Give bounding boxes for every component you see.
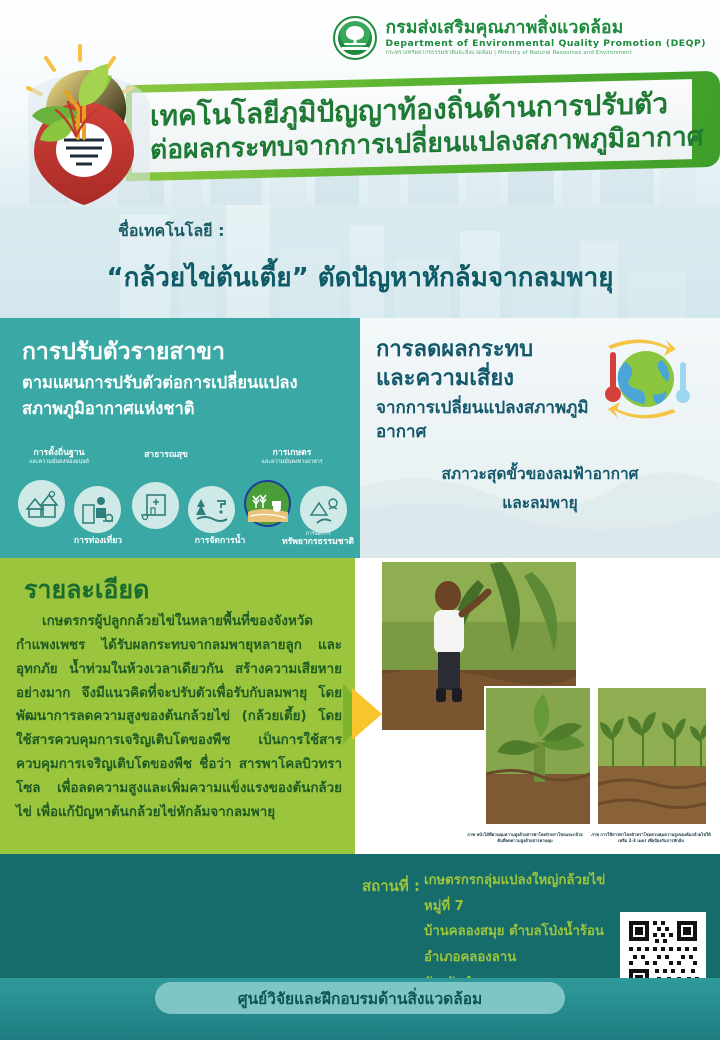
- adaptation-subheading-1: ตามแผนการปรับตัวต่อการเปลี่ยนแปลง: [22, 371, 352, 394]
- deqp-seal-icon: [333, 16, 377, 60]
- location-line-1: เกษตรกรกลุ่มแปลงใหญ่กล้วยไข่ หมู่ที่ 7: [424, 868, 624, 919]
- risk-line-1: สภาวะสุดขั้วของลมฟ้าอากาศ: [360, 460, 720, 489]
- short-banana-tree-photo: [484, 686, 592, 826]
- photo-illustration-short-banana: [486, 688, 592, 826]
- poster-title: เทคโนโลยีภูมิปัญญาท้องถิ่นด้านการปรับตัว…: [150, 77, 695, 176]
- sector-icon-water[interactable]: [188, 486, 235, 533]
- footer-text: ศูนย์วิจัยและฝึกอบรมด้านสิ่งแวดล้อม: [238, 986, 483, 1011]
- technology-name-band: ชื่อเทคโนโลยี : “กล้วยไข่ต้นเตี้ย” ตัดปั…: [0, 205, 720, 318]
- technology-label: ชื่อเทคโนโลยี :: [118, 219, 224, 244]
- extreme-weather-text: สภาวะสุดขั้วของลมฟ้าอากาศ และลมพายุ: [360, 460, 720, 517]
- photo-caption-2: ภาพ หน้าไม้ที่ควบคุมความสูงด้วยสารพาโคลบ…: [466, 832, 584, 844]
- sector-label-tourism: การท่องเที่ยว: [46, 536, 150, 546]
- deqp-name-english: Department of Environmental Quality Prom…: [385, 39, 706, 49]
- technology-name: “กล้วยไข่ต้นเตี้ย” ตัดปัญหาหักล้มจากลมพา…: [0, 257, 720, 298]
- poster-header: เทคโนโลยีภูมิปัญญาท้องถิ่นด้านการปรับตัว…: [0, 0, 720, 205]
- sector-icon-health[interactable]: [132, 482, 179, 529]
- settlement-houses-icon: [25, 489, 59, 519]
- location-line-2: บ้านคลองสมุย ตำบลโป่งน้ำร้อน: [424, 919, 624, 945]
- details-body-text: เกษตรกรผู้ปลูกกล้วยไข่ในหลายพื้นที่ของจั…: [16, 610, 342, 825]
- location-label: สถานที่ :: [362, 874, 420, 898]
- natural-resources-mountain-icon: [307, 495, 341, 525]
- photo-illustration-plantation: [598, 688, 708, 826]
- tourism-city-car-icon: [81, 495, 115, 525]
- sector-label-agriculture: การเกษตร และความมั่นคงทางอาหาร: [228, 448, 356, 465]
- photo-caption-3: ภาพ การใช้สารพาโคลบิวทราโซลควบคุมความสูง…: [590, 832, 712, 844]
- details-title: รายละเอียด: [24, 570, 149, 610]
- sector-label-water: การจัดการน้ำ: [168, 536, 272, 546]
- deqp-ministry: กระทรวงทรัพยากรธรรมชาติและสิ่งแวดล้อม | …: [385, 51, 706, 57]
- sector-icon-natural-resources[interactable]: [300, 486, 347, 533]
- details-panel: รายละเอียด เกษตรกรผู้ปลูกกล้วยไข่ในหลายพ…: [0, 558, 355, 854]
- risk-line-2: และลมพายุ: [360, 489, 720, 518]
- sector-label-natural-resources: การจัดการ ทรัพยากรธรรมชาติ: [276, 530, 360, 547]
- sector-icon-agriculture[interactable]: [244, 480, 291, 527]
- mitigation-risk-panel: การลดผลกระทบ และความเสี่ยง จากการเปลี่ยน…: [360, 318, 720, 558]
- globe-thermometer-icon: [588, 332, 698, 427]
- sector-icon-settlement[interactable]: [18, 480, 65, 527]
- lightbulb-leaf-map-pin-icon: [8, 40, 153, 205]
- sector-icon-tourism[interactable]: [74, 486, 121, 533]
- water-management-faucet-icon: [195, 495, 229, 525]
- agriculture-field-tractor-icon: [248, 486, 288, 522]
- play-arrow-icon: [352, 688, 382, 740]
- sector-label-health: สาธารณสุข: [118, 450, 214, 460]
- sector-icon-row: การตั้งถิ่นฐาน และความมั่นคงของมนุษย์ สา…: [0, 448, 360, 553]
- deqp-logo: กรมส่งเสริมคุณภาพสิ่งแวดล้อม Department …: [333, 16, 706, 60]
- footer-pill: ศูนย์วิจัยและฝึกอบรมด้านสิ่งแวดล้อม: [155, 982, 565, 1014]
- sector-label-settlement: การตั้งถิ่นฐาน และความมั่นคงของมนุษย์: [3, 448, 115, 465]
- public-health-hospital-icon: [139, 491, 173, 521]
- banana-plantation-rows-photo: [596, 686, 708, 826]
- adaptation-subheading-2: สภาพภูมิอากาศแห่งชาติ: [22, 397, 352, 420]
- deqp-name-thai: กรมส่งเสริมคุณภาพสิ่งแวดล้อม: [385, 19, 706, 38]
- adaptation-heading: การปรับตัวรายสาขา: [22, 338, 352, 368]
- location-line-3: อำเภอคลองลาน: [424, 945, 624, 971]
